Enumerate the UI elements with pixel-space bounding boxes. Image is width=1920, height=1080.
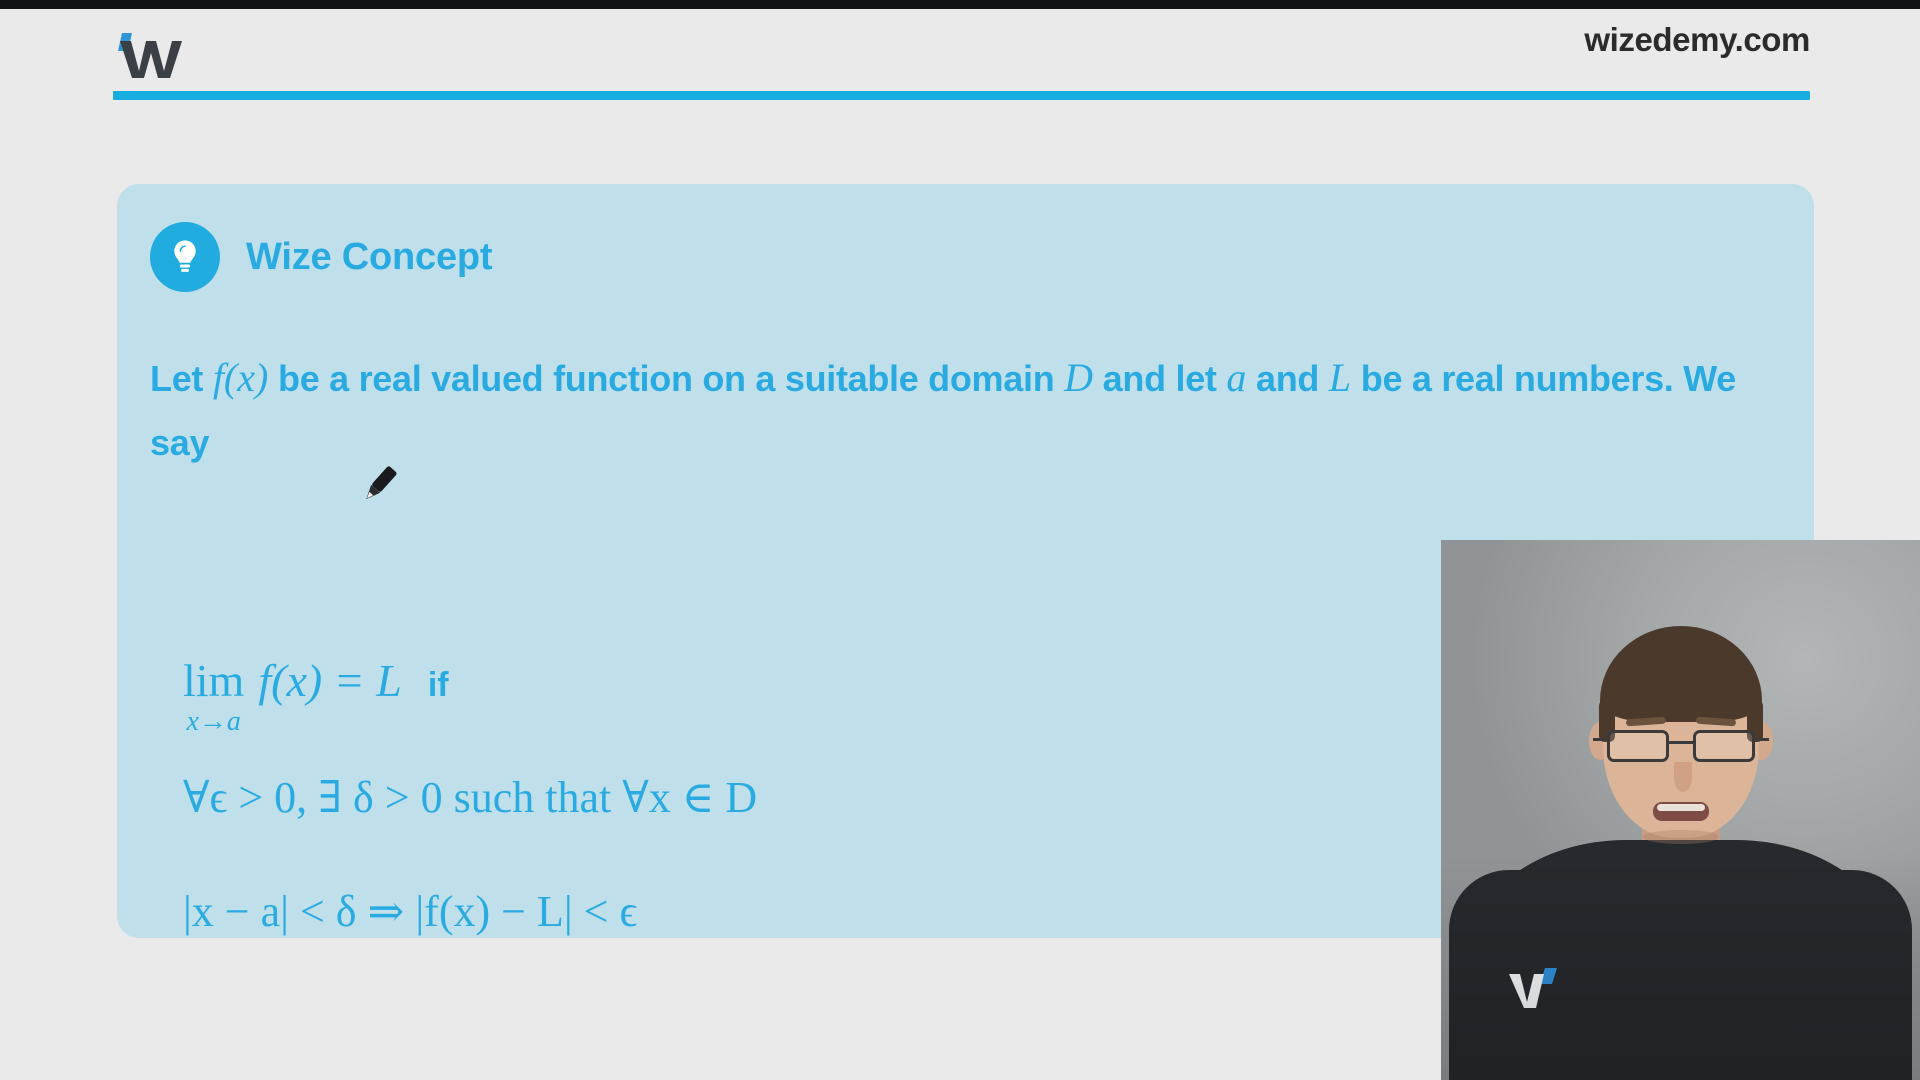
site-url: wizedemy.com xyxy=(1584,21,1810,59)
equation-implication: |x − a| < δ ⇒ |f(x) − L| < ϵ xyxy=(183,886,637,937)
slide-header: wizedemy.com xyxy=(0,9,1920,99)
equation-limit: lim x→a f(x) = L if xyxy=(183,654,449,736)
limit-subscript: x→a xyxy=(186,708,240,736)
instructor-video[interactable] xyxy=(1441,540,1920,1080)
concept-title: Wize Concept xyxy=(246,236,492,279)
header-accent-rule xyxy=(113,91,1810,100)
equation-quantifier: ∀ϵ > 0, ∃ δ > 0 such that ∀x ∈ D xyxy=(183,772,757,823)
paragraph-part-4: and xyxy=(1246,358,1329,399)
wize-logo xyxy=(112,25,184,81)
limit-operator-block: lim x→a xyxy=(183,658,244,736)
paragraph-math-d: D xyxy=(1064,355,1093,400)
limit-body: f(x) = L xyxy=(258,654,401,707)
paragraph-math-l: L xyxy=(1329,355,1351,400)
paragraph-math-a: a xyxy=(1226,355,1246,400)
limit-operator: lim xyxy=(183,658,244,704)
top-black-bar xyxy=(0,0,1920,9)
concept-paragraph: Let f(x) be a real valued function on a … xyxy=(150,346,1780,475)
limit-suffix: if xyxy=(428,666,449,705)
paragraph-part-2: be a real valued function on a suitable … xyxy=(268,358,1064,399)
video-vignette xyxy=(1441,540,1920,1080)
concept-body: Let f(x) be a real valued function on a … xyxy=(150,346,1780,475)
paragraph-part-1: Let xyxy=(150,358,213,399)
paragraph-math-fx: f(x) xyxy=(213,355,269,400)
concept-header: Wize Concept xyxy=(150,222,492,292)
paragraph-part-3: and let xyxy=(1093,358,1226,399)
slide-stage: wizedemy.com Wize Concept Let f(x) be a … xyxy=(0,0,1920,1080)
lightbulb-icon xyxy=(150,222,220,292)
